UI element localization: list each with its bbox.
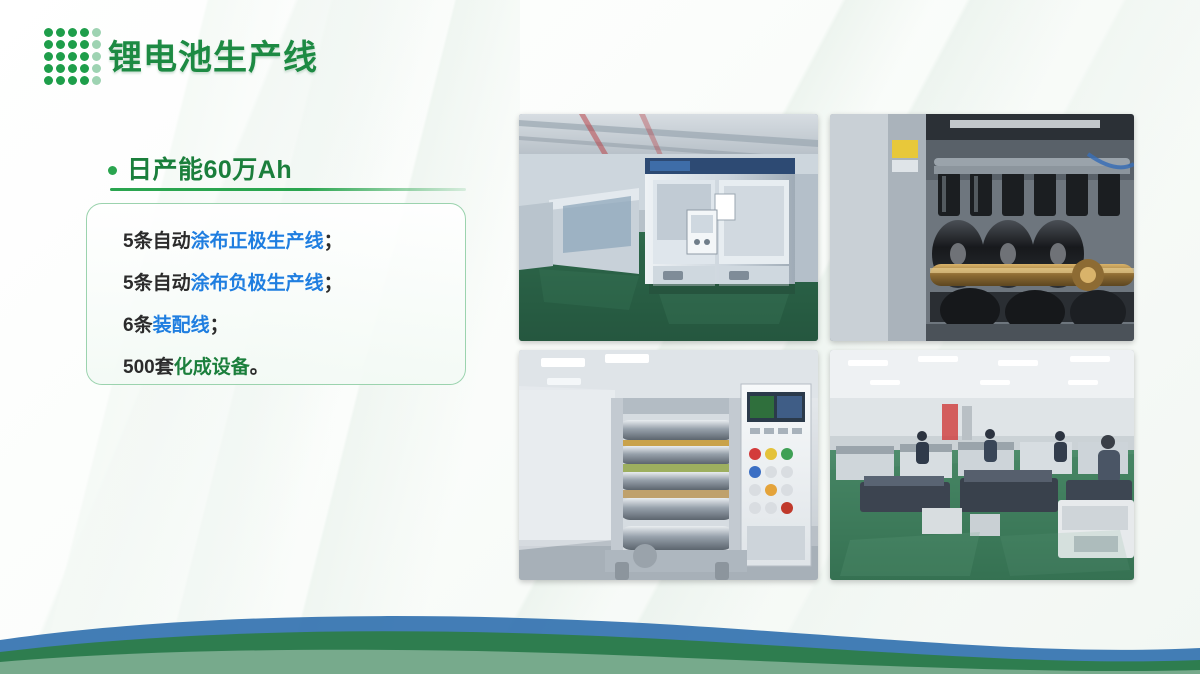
list-item: 500套化成设备。	[123, 352, 439, 379]
photo-grid: 锂电池自动化生产设备车间	[519, 114, 1134, 580]
dot-grid-icon	[44, 28, 101, 85]
list-item-highlight: 化成设备	[174, 357, 250, 378]
info-card: 5条自动涂布正极生产线； 5条自动涂布负极生产线； 6条装配线； 500套化成设…	[86, 203, 466, 385]
subheading-label: 日产能60万Ah	[127, 150, 292, 186]
list-item-highlight: 涂布正极生产线	[191, 231, 324, 252]
photo-assembly-workshop: 装配车间全景	[830, 350, 1134, 580]
list-item: 5条自动涂布正极生产线；	[123, 226, 439, 253]
list-item-suffix: ；	[324, 273, 343, 294]
list-item-suffix: ；	[324, 231, 343, 252]
list-item: 6条装配线；	[123, 310, 439, 337]
list-item-highlight: 涂布负极生产线	[191, 273, 324, 294]
photo-electrode-rolls: 极片卷料分切设备	[830, 114, 1134, 341]
list-item-prefix: 6条	[123, 315, 153, 336]
photo-coating-machine: 涂布机控制面板	[519, 350, 818, 580]
photo-production-line-equipment: 锂电池自动化生产设备车间	[519, 114, 818, 341]
list-item-suffix: 。	[250, 357, 269, 378]
list-item-highlight: 装配线	[153, 315, 210, 336]
slide-root: 锂电池生产线 日产能60万Ah 5条自动涂布正极生产线； 5条自动涂布负极生产线…	[0, 0, 1200, 674]
page-title: 锂电池生产线	[108, 30, 318, 79]
list-item-prefix: 5条自动	[123, 231, 191, 252]
list-item-prefix: 500套	[123, 357, 174, 378]
list-item-suffix: ；	[210, 315, 229, 336]
subheading: 日产能60万Ah	[108, 150, 292, 186]
bullet-dot-icon	[108, 166, 117, 175]
bottom-wave-decoration	[0, 604, 1200, 674]
list-item: 5条自动涂布负极生产线；	[123, 268, 439, 295]
subheading-underline	[110, 188, 466, 191]
list-item-prefix: 5条自动	[123, 273, 191, 294]
